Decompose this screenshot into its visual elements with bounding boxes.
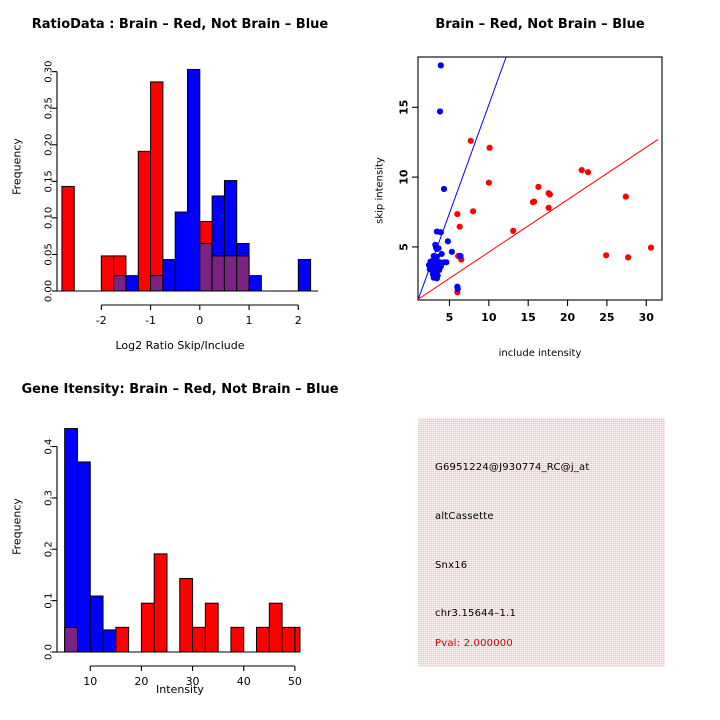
histogram-bar-overlap bbox=[224, 256, 236, 291]
scatter-point-blue bbox=[443, 259, 449, 265]
histogram-bar-red bbox=[180, 579, 193, 652]
scatter-point-blue bbox=[437, 108, 443, 114]
histogram-bar-blue bbox=[298, 260, 310, 291]
x-tick-label: 30 bbox=[639, 311, 655, 324]
histogram-bar-red bbox=[138, 151, 150, 291]
histogram-bar-blue bbox=[103, 630, 116, 652]
x-tick-label: 2 bbox=[295, 314, 302, 327]
x-tick-label: 20 bbox=[560, 311, 576, 324]
histogram-bar-red bbox=[154, 554, 167, 652]
y-tick-label: 0.0 bbox=[43, 644, 54, 660]
y-tick-label: 15 bbox=[398, 100, 411, 115]
scatter-point-blue bbox=[449, 249, 455, 255]
scatter-point-blue bbox=[436, 267, 442, 273]
y-tick-label: 0.25 bbox=[43, 97, 54, 119]
info-line-event-type: altCassette bbox=[435, 511, 494, 522]
y-tick-label: 0.20 bbox=[43, 134, 54, 156]
x-tick-label: 25 bbox=[599, 311, 614, 324]
panel-gene-info: G6951224@J930774_RC@j_at altCassette Snx… bbox=[418, 418, 665, 667]
histogram-bar-overlap bbox=[200, 243, 212, 291]
histogram-bar-blue bbox=[77, 462, 90, 652]
scatter-point-red bbox=[470, 208, 476, 214]
histogram-bar-red bbox=[231, 627, 244, 652]
y-tick-label: 5 bbox=[398, 243, 411, 251]
y-tick-label: 0.10 bbox=[43, 207, 54, 229]
y-tick-label: 0.15 bbox=[43, 170, 54, 192]
scatter-point-blue bbox=[434, 275, 440, 281]
x-tick-label: 5 bbox=[446, 311, 454, 324]
histogram-bar-overlap bbox=[237, 256, 249, 291]
histogram-bar-red bbox=[101, 256, 113, 291]
scatter-point-blue bbox=[441, 186, 447, 192]
scatter-point-red bbox=[510, 228, 516, 234]
plot-canvas: RatioData : Brain – Red, Not Brain – Blu… bbox=[0, 0, 720, 720]
x-tick-label: 15 bbox=[521, 311, 536, 324]
scatter-point-red bbox=[468, 138, 474, 144]
y-tick-label: 0.3 bbox=[43, 490, 54, 506]
scatter-point-red bbox=[535, 184, 541, 190]
y-tick-label: 0.4 bbox=[43, 439, 54, 455]
gene-bars bbox=[65, 429, 300, 652]
scatter-point-red bbox=[625, 254, 631, 260]
panel-gene-intensity-histogram: Gene Itensity: Brain – Red, Not Brain – … bbox=[0, 360, 360, 720]
scatter-point-blue bbox=[438, 62, 444, 68]
ratio-histogram-ylabel: Frequency bbox=[11, 112, 24, 222]
histogram-bar-blue bbox=[188, 69, 200, 291]
scatter-point-blue bbox=[438, 229, 444, 235]
info-line-pvalue: Pval: 2.000000 bbox=[435, 638, 513, 649]
y-tick-label: 0.30 bbox=[43, 61, 54, 83]
histogram-bar-red bbox=[257, 627, 270, 652]
y-tick-label: 0.2 bbox=[43, 541, 54, 557]
x-tick-label: -1 bbox=[145, 314, 156, 327]
histogram-bar-blue bbox=[249, 276, 261, 291]
scatter-point-red bbox=[603, 252, 609, 258]
scatter-point-red bbox=[648, 245, 654, 251]
panel-ratio-histogram: RatioData : Brain – Red, Not Brain – Blu… bbox=[0, 0, 360, 360]
scatter-content bbox=[418, 57, 658, 300]
scatter-point-red bbox=[579, 167, 585, 173]
gene-histogram-xlabel: Intensity bbox=[0, 683, 360, 696]
y-tick-label: 0.05 bbox=[43, 243, 54, 265]
info-line-gene-symbol: Snx16 bbox=[435, 560, 467, 571]
ratio-histogram-plot: 0.000.050.100.150.200.250.30-2-1012 bbox=[0, 22, 360, 352]
scatter-point-blue bbox=[445, 238, 451, 244]
x-tick-label: 10 bbox=[481, 311, 497, 324]
scatter-point-red bbox=[546, 205, 552, 211]
histogram-bar-red bbox=[205, 603, 218, 652]
scatter-ylabel: skip intensity bbox=[375, 141, 386, 241]
y-tick-label: 0.00 bbox=[43, 280, 54, 302]
histogram-bar-overlap bbox=[151, 276, 163, 291]
histogram-bar-overlap bbox=[65, 627, 78, 652]
histogram-bar-red bbox=[151, 82, 163, 291]
histogram-bar-red bbox=[62, 186, 74, 291]
histogram-bar-red bbox=[141, 603, 154, 652]
histogram-bar-red bbox=[295, 627, 300, 652]
scatter-point-red bbox=[531, 198, 537, 204]
scatter-point-blue bbox=[435, 245, 441, 251]
scatter-point-red bbox=[454, 211, 460, 217]
scatter-box bbox=[418, 57, 662, 300]
y-tick-label: 10 bbox=[398, 169, 411, 185]
scatter-plot: 5101520253051015 bbox=[360, 22, 720, 352]
scatter-point-red bbox=[457, 224, 463, 230]
y-tick-label: 0.1 bbox=[43, 593, 54, 609]
scatter-point-red bbox=[547, 191, 553, 197]
scatter-point-red bbox=[487, 145, 493, 151]
gene-histogram-ylabel: Frequency bbox=[11, 472, 24, 582]
scatter-point-blue bbox=[455, 286, 461, 292]
histogram-bar-blue bbox=[126, 276, 138, 291]
x-tick-label: 0 bbox=[196, 314, 203, 327]
histogram-bar-blue bbox=[163, 260, 175, 291]
ratio-bars bbox=[62, 69, 311, 291]
ratio-histogram-xlabel: Log2 Ratio Skip/Include bbox=[0, 339, 360, 352]
histogram-bar-blue bbox=[65, 429, 78, 652]
reference-line-red-diagonal bbox=[418, 139, 658, 299]
scatter-axes: 5101520253051015 bbox=[398, 100, 655, 324]
histogram-bar-red bbox=[116, 627, 129, 652]
histogram-bar-overlap bbox=[212, 256, 224, 291]
histogram-bar-red bbox=[193, 627, 206, 652]
scatter-point-red bbox=[486, 180, 492, 186]
gene-histogram-plot: 0.00.10.20.30.41020304050 bbox=[0, 388, 360, 718]
histogram-bar-blue bbox=[90, 596, 103, 652]
histogram-bar-red bbox=[269, 603, 282, 652]
info-line-locus: chr3.15644–1.1 bbox=[435, 608, 516, 619]
scatter-point-red bbox=[623, 194, 629, 200]
x-tick-label: -2 bbox=[96, 314, 107, 327]
histogram-bar-overlap bbox=[114, 276, 126, 291]
scatter-point-red bbox=[585, 169, 591, 175]
x-tick-label: 1 bbox=[246, 314, 253, 327]
histogram-bar-blue bbox=[175, 212, 187, 291]
panel-intensity-scatter: Brain – Red, Not Brain – Blue 5101520253… bbox=[360, 0, 720, 360]
histogram-bar-red bbox=[282, 627, 295, 652]
info-line-probe-id: G6951224@J930774_RC@j_at bbox=[435, 462, 589, 473]
scatter-xlabel: include intensity bbox=[360, 348, 720, 359]
scatter-point-blue bbox=[457, 253, 463, 259]
